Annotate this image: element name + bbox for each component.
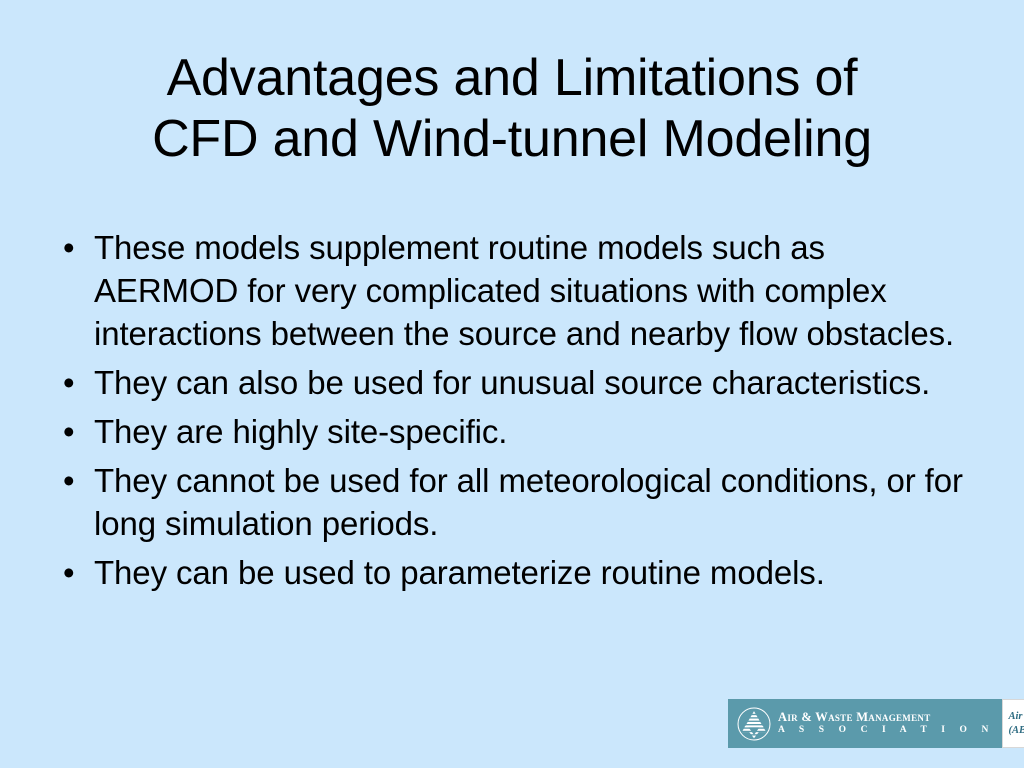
bullet-point-icon: • — [56, 226, 94, 269]
list-item: • They cannot be used for all meteorolog… — [56, 459, 972, 545]
awma-logo: Air & Waste Management A S S O C I A T I… — [728, 699, 1002, 748]
bullet-point-icon: • — [56, 551, 94, 594]
bullet-point-icon: • — [56, 459, 94, 502]
slide-title: Advantages and Limitations of CFD and Wi… — [60, 48, 964, 170]
bullet-point-icon: • — [56, 410, 94, 453]
committee-badge: Air Pollution Meteorology (AB-3) Committ… — [1002, 699, 1024, 748]
list-item: • These models supplement routine models… — [56, 226, 972, 355]
list-item-text: They are highly site-specific. — [94, 410, 972, 453]
list-item: • They are highly site-specific. — [56, 410, 972, 453]
awma-name-line-2: A S S O C I A T I O N — [778, 724, 994, 737]
bullet-point-icon: • — [56, 361, 94, 404]
list-item-text: They can also be used for unusual source… — [94, 361, 972, 404]
slide-canvas: Advantages and Limitations of CFD and Wi… — [0, 0, 1024, 768]
list-item: • They can also be used for unusual sour… — [56, 361, 972, 404]
list-item: • They can be used to parameterize routi… — [56, 551, 972, 594]
committee-name-line-2: (AB-3) Committee — [1008, 724, 1024, 738]
logo-lockup: Air & Waste Management A S S O C I A T I… — [728, 699, 1024, 748]
committee-name-line-1: Air Pollution Meteorology — [1008, 710, 1024, 724]
list-item-text: They cannot be used for all meteorologic… — [94, 459, 972, 545]
awma-name-line-1: Air & Waste Management — [778, 710, 994, 724]
awma-triangle-circle-emblem — [737, 707, 771, 741]
list-item-text: These models supplement routine models s… — [94, 226, 972, 355]
slide-bullet-list: • These models supplement routine models… — [56, 226, 972, 600]
slide-title-line-2: CFD and Wind-tunnel Modeling — [60, 109, 964, 170]
list-item-text: They can be used to parameterize routine… — [94, 551, 972, 594]
slide-title-line-1: Advantages and Limitations of — [60, 48, 964, 109]
awma-wordmark: Air & Waste Management A S S O C I A T I… — [778, 710, 994, 737]
